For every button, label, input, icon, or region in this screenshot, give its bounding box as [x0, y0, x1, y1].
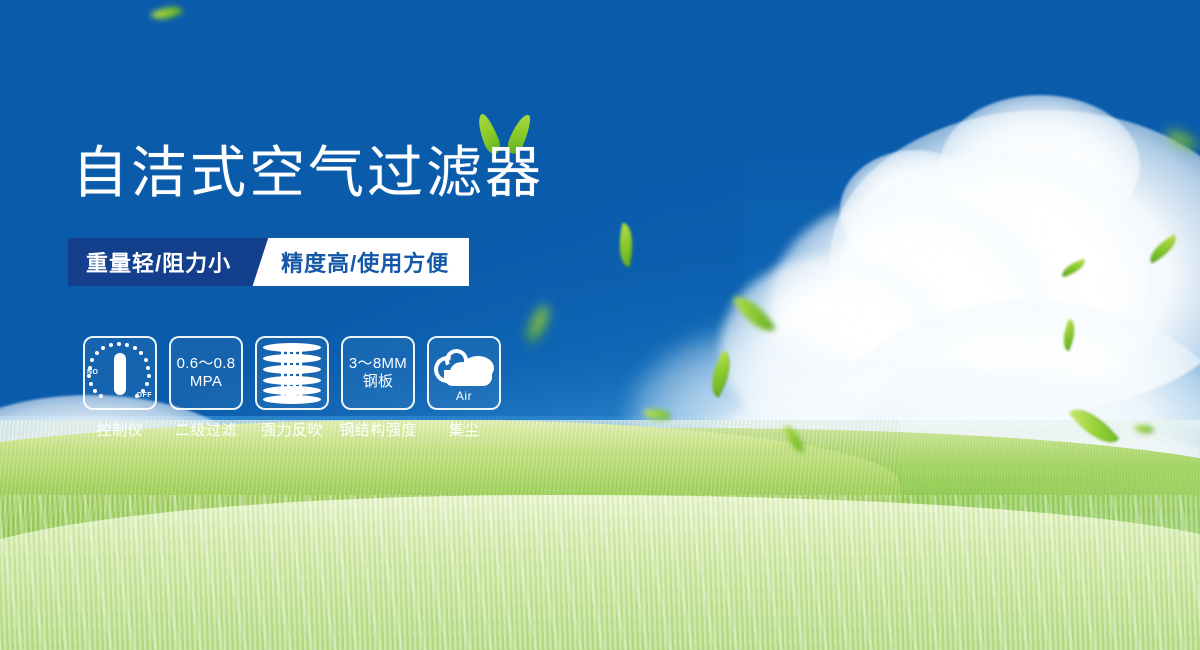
subtitle-band: 重量轻/阻力小 精度高/使用方便	[68, 238, 469, 286]
feature-label: 钢结构强度	[339, 419, 417, 440]
meadow-foreground	[0, 495, 1200, 650]
feature-icon-box: 0.6～0.8 MPA	[169, 336, 243, 410]
feature-label: 二级过滤	[175, 419, 237, 440]
page-title: 自洁式空气过滤器	[72, 145, 544, 201]
feature-list: NO OFF 控制仪 0.6～0.8 MPA 二级过滤	[82, 336, 502, 440]
feature-item-controller[interactable]: NO OFF 控制仪	[82, 336, 158, 440]
filter-stack-icon	[263, 343, 321, 403]
feature-label: 控制仪	[97, 419, 144, 440]
feature-item-secondary-filter[interactable]: 0.6～0.8 MPA 二级过滤	[168, 336, 244, 440]
feature-label: 集尘	[448, 419, 479, 440]
gauge-no-label: NO	[87, 369, 99, 376]
steel-thickness: 3～8MM	[349, 355, 407, 373]
feature-item-steel-strength[interactable]: 3～8MM 钢板 钢结构强度	[340, 336, 416, 440]
pressure-text-icon: 0.6～0.8 MPA	[177, 355, 236, 391]
grass-field	[0, 420, 1200, 650]
feature-item-dust-collection[interactable]: Air 集尘	[426, 336, 502, 440]
gauge-off-label: OFF	[137, 392, 153, 399]
subtitle-divider	[247, 238, 277, 286]
pressure-unit: MPA	[177, 373, 236, 391]
steel-plate-text-icon: 3～8MM 钢板	[349, 355, 407, 391]
gauge-needle	[114, 353, 126, 395]
air-cloud-icon: Air	[432, 344, 496, 402]
feature-icon-box	[255, 336, 329, 410]
subtitle-right-segment: 精度高/使用方便	[277, 238, 469, 286]
feature-icon-box: Air	[427, 336, 501, 410]
subtitle-left-segment: 重量轻/阻力小	[68, 238, 247, 286]
gauge-dial-icon: NO OFF	[87, 342, 153, 404]
air-label: Air	[432, 389, 496, 403]
feature-item-backblow[interactable]: 强力反吹	[254, 336, 330, 440]
steel-material: 钢板	[349, 373, 407, 391]
pressure-range: 0.6～0.8	[177, 355, 236, 373]
feature-icon-box: NO OFF	[83, 336, 157, 410]
feature-label: 强力反吹	[261, 419, 323, 440]
product-banner: 自洁式空气过滤器 重量轻/阻力小 精度高/使用方便	[0, 0, 1200, 650]
feature-icon-box: 3～8MM 钢板	[341, 336, 415, 410]
